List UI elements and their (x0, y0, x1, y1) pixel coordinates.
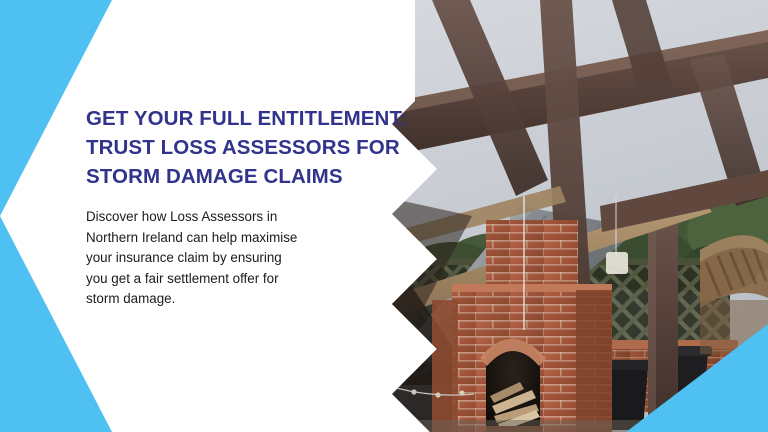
subcopy-line-3: your insurance claim by ensuring (86, 248, 378, 269)
headline-line-3: STORM DAMAGE CLAIMS (86, 162, 386, 191)
subcopy-line-4: you get a fair settlement offer for (86, 269, 378, 290)
page-title: GET YOUR FULL ENTITLEMENT: TRUST LOSS AS… (86, 104, 386, 191)
headline-line-2: TRUST LOSS ASSESSORS FOR (86, 133, 386, 162)
headline-line-1: GET YOUR FULL ENTITLEMENT: (86, 104, 386, 133)
hero-banner: GET YOUR FULL ENTITLEMENT: TRUST LOSS AS… (0, 0, 768, 432)
subcopy-line-5: storm damage. (86, 289, 378, 310)
copy-block: GET YOUR FULL ENTITLEMENT: TRUST LOSS AS… (86, 104, 386, 310)
subheading-text: Discover how Loss Assessors in Northern … (86, 207, 378, 310)
subcopy-line-1: Discover how Loss Assessors in (86, 207, 378, 228)
subcopy-line-2: Northern Ireland can help maximise (86, 228, 378, 249)
